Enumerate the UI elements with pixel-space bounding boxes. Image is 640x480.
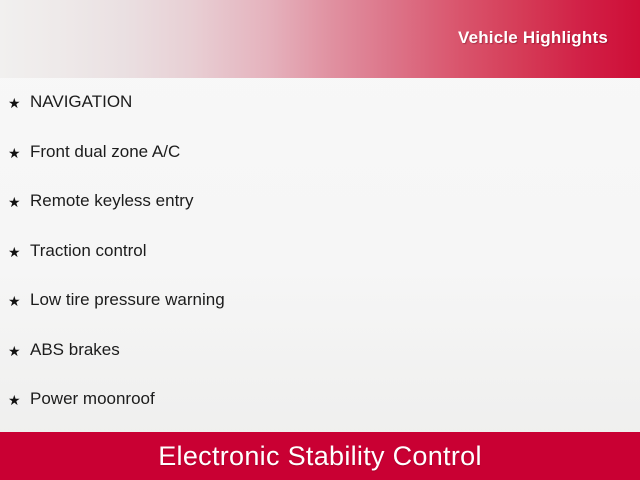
footer-title: Electronic Stability Control — [158, 443, 482, 470]
list-item: ★ Remote keyless entry — [0, 177, 640, 227]
footer-banner: Electronic Stability Control — [0, 432, 640, 480]
list-item-label: NAVIGATION — [30, 93, 640, 112]
star-icon: ★ — [8, 343, 30, 358]
list-item: ★ Power moonroof — [0, 375, 640, 425]
list-item: ★ NAVIGATION — [0, 78, 640, 128]
list-item-label: Low tire pressure warning — [30, 291, 640, 310]
list-item-label: Remote keyless entry — [30, 192, 640, 211]
header-banner: Vehicle Highlights — [0, 0, 640, 78]
list-item: ★ Front dual zone A/C — [0, 128, 640, 178]
list-item: ★ Low tire pressure warning — [0, 276, 640, 326]
page-title: Vehicle Highlights — [458, 28, 608, 48]
list-item-label: ABS brakes — [30, 341, 640, 360]
list-item-label: Front dual zone A/C — [30, 143, 640, 162]
star-icon: ★ — [8, 392, 30, 407]
star-icon: ★ — [8, 244, 30, 259]
list-item: ★ ABS brakes — [0, 326, 640, 376]
star-icon: ★ — [8, 145, 30, 160]
list-item-label: Traction control — [30, 242, 640, 261]
star-icon: ★ — [8, 95, 30, 110]
star-icon: ★ — [8, 194, 30, 209]
star-icon: ★ — [8, 293, 30, 308]
vehicle-highlights-list: ★ NAVIGATION ★ Front dual zone A/C ★ Rem… — [0, 78, 640, 432]
list-item-label: Power moonroof — [30, 390, 640, 409]
vehicle-highlights-slide: Vehicle Highlights ★ NAVIGATION ★ Front … — [0, 0, 640, 480]
list-item: ★ Traction control — [0, 227, 640, 277]
